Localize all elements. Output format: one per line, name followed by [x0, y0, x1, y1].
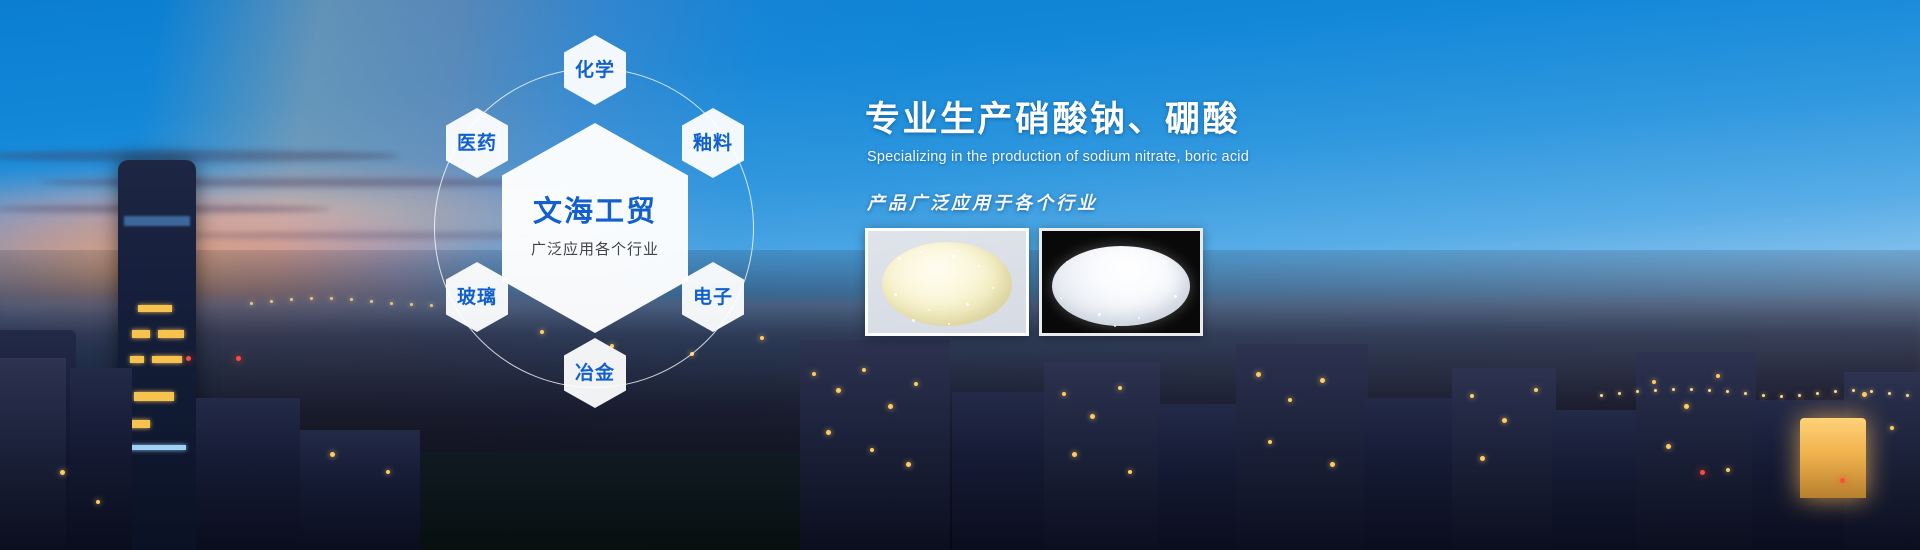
- building: [70, 368, 132, 550]
- powder-pile: [1052, 246, 1190, 326]
- building: [1364, 398, 1456, 550]
- product-photo-boric-acid[interactable]: [1039, 228, 1203, 336]
- hex-node-label: 电子: [693, 288, 733, 307]
- building: [1552, 410, 1640, 550]
- hex-node-label: 医药: [457, 134, 497, 153]
- building: [196, 398, 300, 550]
- banner-tagline: 产品广泛应用于各个行业: [867, 189, 1565, 215]
- illuminated-landmark: [1800, 418, 1866, 498]
- building: [1044, 362, 1160, 550]
- building: [1158, 404, 1242, 550]
- lit-bridge: [250, 300, 450, 302]
- hex-node-label: 玻璃: [457, 288, 497, 307]
- building: [952, 392, 1048, 550]
- hex-node-label: 釉料: [693, 134, 733, 153]
- hex-node-label: 化学: [575, 61, 615, 80]
- powder-pile: [882, 242, 1012, 326]
- cloud-streak: [0, 150, 400, 162]
- company-slogan: 广泛应用各个行业: [531, 238, 659, 259]
- industry-hexagon-diagram: 化学 釉料 电子 冶金 玻璃 医药 文海工贸 广泛应用各个行业: [430, 40, 760, 440]
- banner-subheadline-english: Specializing in the production of sodium…: [867, 149, 1565, 165]
- banner-copy: 专业生产硝酸钠、硼酸 Specializing in the productio…: [865, 100, 1565, 215]
- building: [1452, 368, 1556, 550]
- lit-bridge: [1600, 392, 1920, 394]
- building: [0, 358, 66, 550]
- hero-banner: 化学 釉料 电子 冶金 玻璃 医药 文海工贸 广泛应用各个行业 专业生产硝酸钠、…: [0, 0, 1920, 550]
- company-name: 文海工贸: [533, 198, 657, 227]
- product-photo-gallery: [865, 228, 1203, 336]
- hex-node-label: 冶金: [575, 364, 615, 383]
- banner-headline: 专业生产硝酸钠、硼酸: [865, 100, 1565, 140]
- park-area: [420, 452, 840, 550]
- building: [800, 340, 950, 550]
- product-photo-sodium-nitrate[interactable]: [865, 228, 1029, 336]
- building: [300, 430, 420, 550]
